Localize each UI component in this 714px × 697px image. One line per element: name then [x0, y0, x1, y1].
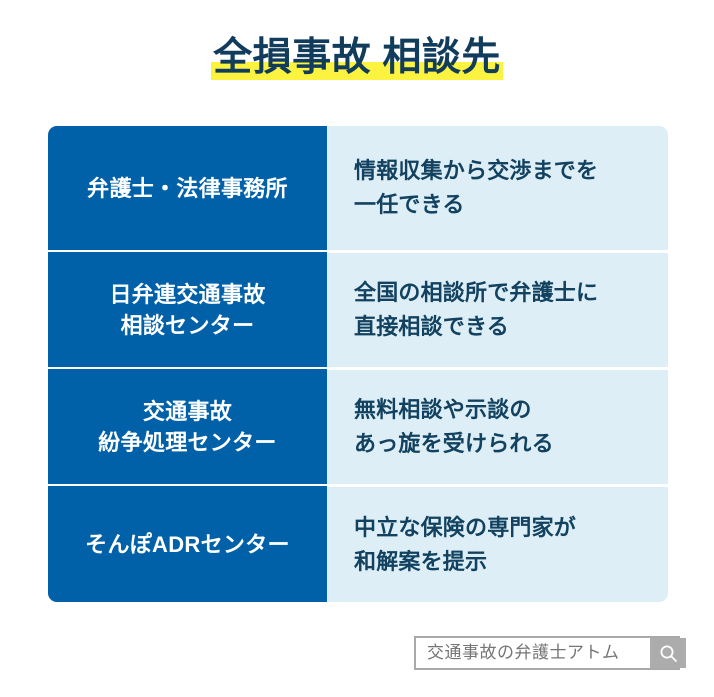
row-3-desc-line1: 無料相談や示談の	[354, 393, 554, 427]
search-icon	[659, 644, 678, 663]
search-bar[interactable]	[414, 636, 680, 670]
table-row: そんぽADRセンター 中立な保険の専門家が 和解案を提示	[48, 484, 668, 602]
row-3-desc-line2: あっ旋を受けられる	[354, 427, 554, 461]
row-2-desc-cell: 全国の相談所で弁護士に 直接相談できる	[327, 250, 668, 367]
row-4-desc-cell: 中立な保険の専門家が 和解案を提示	[327, 484, 668, 602]
row-2-desc-line1: 全国の相談所で弁護士に	[354, 276, 598, 310]
row-3-name-line1: 交通事故	[98, 396, 276, 427]
table-row: 日弁連交通事故 相談センター 全国の相談所で弁護士に 直接相談できる	[48, 250, 668, 367]
row-4-desc-line2: 和解案を提示	[354, 545, 576, 579]
row-2-name-cell: 日弁連交通事故 相談センター	[48, 250, 327, 367]
row-1-desc-line1: 情報収集から交渉までを	[354, 154, 598, 188]
row-1-name-cell: 弁護士・法律事務所	[48, 126, 327, 250]
row-1-desc-line2: 一任できる	[354, 188, 598, 222]
consultation-table: 弁護士・法律事務所 情報収集から交渉までを 一任できる 日弁連交通事故 相談セン…	[48, 126, 668, 602]
row-2-name-line2: 相談センター	[109, 310, 265, 341]
page-title-container: 全損事故 相談先	[0, 34, 714, 82]
row-3-name-cell: 交通事故 紛争処理センター	[48, 367, 327, 484]
row-1-desc-cell: 情報収集から交渉までを 一任できる	[327, 126, 668, 250]
row-3-name-line2: 紛争処理センター	[98, 427, 276, 458]
row-4-desc-line1: 中立な保険の専門家が	[354, 511, 576, 545]
table-row: 弁護士・法律事務所 情報収集から交渉までを 一任できる	[48, 126, 668, 250]
search-button[interactable]	[650, 638, 686, 668]
search-input[interactable]	[416, 638, 650, 668]
page-title: 全損事故 相談先	[211, 34, 503, 82]
row-2-name-line1: 日弁連交通事故	[109, 279, 265, 310]
row-4-name-cell: そんぽADRセンター	[48, 484, 327, 602]
page-title-text: 全損事故 相談先	[213, 36, 501, 79]
row-2-desc-line2: 直接相談できる	[354, 310, 598, 344]
row-4-name-line1: そんぽADRセンター	[85, 529, 290, 560]
table-row: 交通事故 紛争処理センター 無料相談や示談の あっ旋を受けられる	[48, 367, 668, 484]
row-1-name-line1: 弁護士・法律事務所	[87, 173, 288, 204]
row-3-desc-cell: 無料相談や示談の あっ旋を受けられる	[327, 367, 668, 484]
